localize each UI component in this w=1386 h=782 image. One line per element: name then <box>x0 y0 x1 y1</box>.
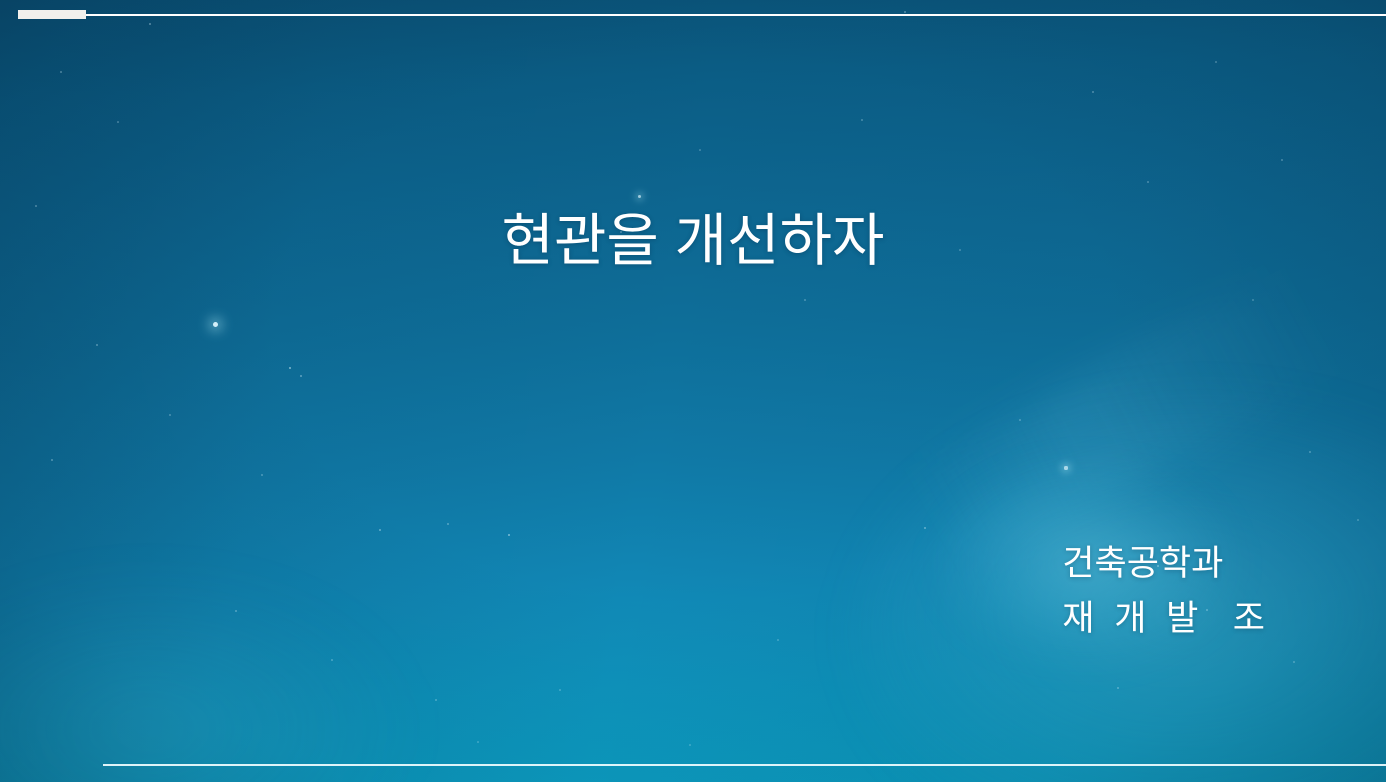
subtitle-placeholder: 건축공학과 재 개 발 조 <box>1062 536 1270 647</box>
presentation-slide: 현관을 개선하자 건축공학과 재 개 발 조 <box>0 0 1386 782</box>
top-accent-bar <box>18 10 86 19</box>
bottom-divider-rule <box>103 764 1386 766</box>
subtitle-line-team: 재 개 발 조 <box>1062 591 1270 646</box>
subtitle-line-department: 건축공학과 <box>1062 536 1270 591</box>
background-vignette <box>0 0 1386 782</box>
top-divider-rule <box>18 14 1386 16</box>
